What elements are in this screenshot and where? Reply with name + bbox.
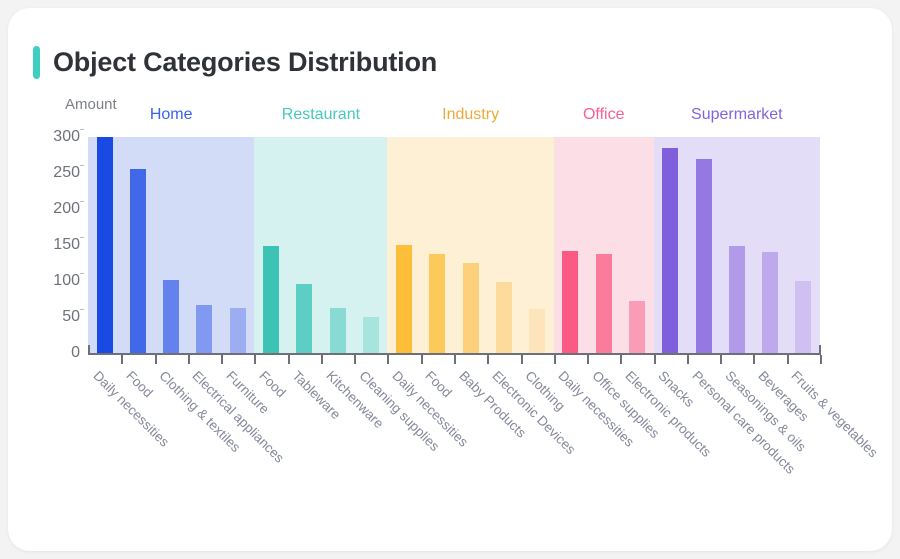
bar[interactable] [330, 308, 346, 353]
x-axis-tick-mark [820, 355, 822, 364]
bar[interactable] [562, 251, 578, 353]
screenshot-root: Object Categories Distribution Amount 05… [0, 0, 900, 559]
bar[interactable] [496, 282, 512, 353]
chart-card: Object Categories Distribution Amount 05… [8, 8, 892, 551]
bar[interactable] [696, 159, 712, 353]
bar[interactable] [529, 309, 545, 353]
bar[interactable] [429, 254, 445, 353]
x-axis-tick-mark [288, 355, 290, 364]
y-axis-tick-label: 0 [71, 344, 80, 362]
x-axis-tick-mark [753, 355, 755, 364]
x-axis-tick-mark [554, 355, 556, 364]
y-axis-tick-label: 50 [62, 308, 80, 326]
bar[interactable] [762, 252, 778, 353]
y-axis-tick-labels: 050100150200250300 [8, 8, 80, 551]
y-axis-tick-mark [80, 309, 84, 310]
y-axis-tick-mark [80, 201, 84, 202]
x-axis-left-cap [88, 345, 90, 354]
x-axis-tick-mark [787, 355, 789, 364]
bar[interactable] [596, 254, 612, 353]
plot-area [88, 137, 820, 353]
bar[interactable] [263, 246, 279, 353]
group-legend-label-supermarket: Supermarket [691, 106, 783, 124]
x-axis-tick-mark [454, 355, 456, 364]
bar[interactable] [163, 280, 179, 353]
y-axis-tick-label: 100 [53, 272, 80, 290]
x-axis-tick-mark [421, 355, 423, 364]
x-axis-tick-mark [155, 355, 157, 364]
x-axis-tick-mark [620, 355, 622, 364]
x-axis-tick-mark [221, 355, 223, 364]
bar[interactable] [396, 245, 412, 353]
x-axis-tick-mark [687, 355, 689, 364]
x-axis-tick-mark [354, 355, 356, 364]
y-axis-tick-mark [80, 237, 84, 238]
x-axis-tick-mark [654, 355, 656, 364]
y-axis-tick-label: 150 [53, 236, 80, 254]
x-axis-tick-mark [720, 355, 722, 364]
y-axis-tick-label: 250 [53, 164, 80, 182]
group-legend-label-restaurant: Restaurant [282, 106, 360, 124]
bar[interactable] [130, 169, 146, 353]
y-axis-tick-mark [80, 129, 84, 130]
y-axis-tick-label: 300 [53, 128, 80, 146]
bar[interactable] [196, 305, 212, 353]
x-axis-tick-mark [121, 355, 123, 364]
page-title: Object Categories Distribution [53, 47, 437, 78]
bar[interactable] [662, 148, 678, 353]
x-axis-tick-mark [487, 355, 489, 364]
x-axis-tick-mark [254, 355, 256, 364]
group-legend-label-office: Office [583, 106, 625, 124]
y-axis-tick-label: 200 [53, 200, 80, 218]
y-axis-tick-mark [80, 165, 84, 166]
x-axis-tick-mark [188, 355, 190, 364]
bar[interactable] [97, 137, 113, 353]
x-axis-tick-mark [521, 355, 523, 364]
x-axis-tick-mark [587, 355, 589, 364]
bar[interactable] [463, 263, 479, 353]
bar[interactable] [629, 301, 645, 353]
bar[interactable] [363, 317, 379, 353]
y-axis-tick-mark [80, 273, 84, 274]
bar[interactable] [230, 308, 246, 353]
bar[interactable] [729, 246, 745, 353]
card-header: Object Categories Distribution [33, 46, 437, 79]
group-legend-label-home: Home [150, 106, 193, 124]
bar[interactable] [296, 284, 312, 353]
group-legend-label-industry: Industry [442, 106, 499, 124]
x-axis-tick-mark [321, 355, 323, 364]
bar[interactable] [795, 281, 811, 353]
x-axis-right-cap [819, 345, 821, 354]
x-axis-tick-mark [387, 355, 389, 364]
